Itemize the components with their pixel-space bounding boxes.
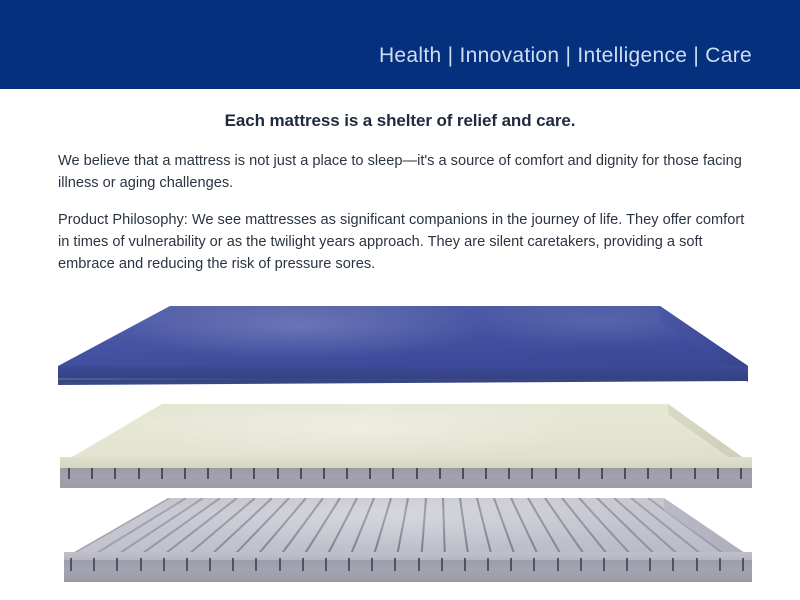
mattress-layer-cream-foam — [0, 402, 800, 482]
grey-base-groove-lines — [0, 496, 800, 558]
mattress-layer-blue-cover — [0, 296, 800, 388]
paragraph-philosophy: Product Philosophy: We see mattresses as… — [58, 209, 758, 275]
cream-foam-highlight — [0, 402, 800, 464]
paragraph-philosophy-container: Product Philosophy: We see mattresses as… — [58, 209, 758, 275]
cream-foam-slot-marks — [60, 468, 752, 480]
main-content: Each mattress is a shelter of relief and… — [0, 89, 800, 131]
paragraph-intro-container: We believe that a mattress is not just a… — [58, 150, 758, 194]
mattress-layers-illustration — [0, 296, 800, 586]
page-header: Health | Innovation | Intelligence | Car… — [0, 0, 800, 89]
grey-base-slot-marks — [64, 558, 752, 572]
mattress-layer-grey-base — [0, 496, 800, 580]
paragraph-intro: We believe that a mattress is not just a… — [58, 150, 758, 194]
header-tagline: Health | Innovation | Intelligence | Car… — [379, 44, 752, 68]
page-title: Each mattress is a shelter of relief and… — [0, 89, 800, 131]
